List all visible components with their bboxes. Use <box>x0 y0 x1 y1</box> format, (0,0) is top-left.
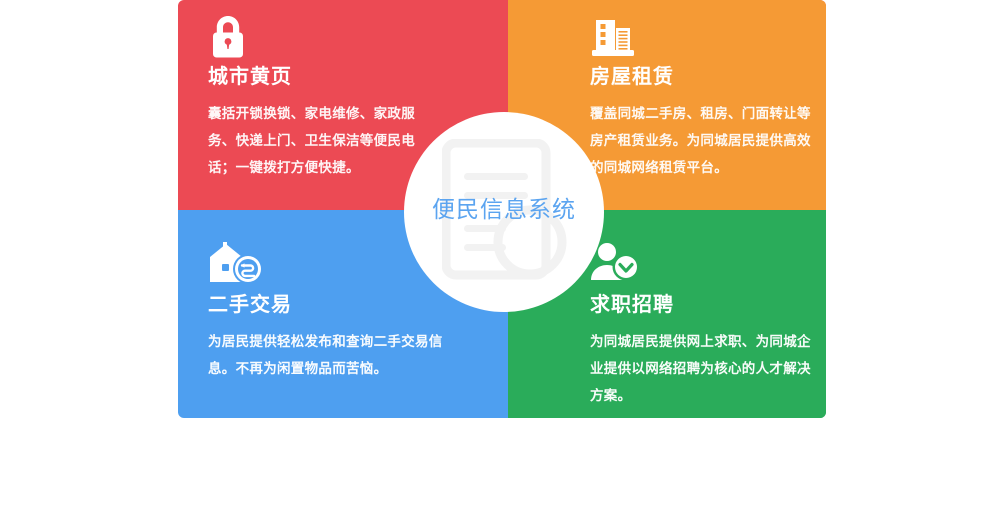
person-check-icon <box>590 242 822 288</box>
quadrant-description: 囊括开锁换锁、家电维修、家政服务、快递上门、卫生保洁等便民电话；一键拨打方便快捷… <box>208 100 438 181</box>
quadrant-title: 城市黄页 <box>208 66 438 88</box>
quadrant-body: 求职招聘 为同城居民提供网上求职、为同城企业提供以网络招聘为核心的人才解决方案。 <box>590 242 822 409</box>
quadrant-body: 城市黄页 囊括开锁换锁、家电维修、家政服务、快递上门、卫生保洁等便民电话；一键拨… <box>208 14 438 181</box>
lock-icon <box>208 14 438 60</box>
infographic-canvas: 城市黄页 囊括开锁换锁、家电维修、家政服务、快递上门、卫生保洁等便民电话；一键拨… <box>0 0 1000 508</box>
quadrant-description: 为同城居民提供网上求职、为同城企业提供以网络招聘为核心的人才解决方案。 <box>590 328 822 409</box>
quadrant-title: 房屋租赁 <box>590 66 820 88</box>
center-label: 便民信息系统 <box>404 198 604 221</box>
quadrant-title: 二手交易 <box>208 294 458 316</box>
center-hub-circle: 便民信息系统 <box>404 112 604 312</box>
quadrant-description: 覆盖同城二手房、租房、门面转让等房产租赁业务。为同城居民提供高效的同城网络租赁平… <box>590 100 820 181</box>
building-icon <box>590 14 820 60</box>
quadrant-description: 为居民提供轻松发布和查询二手交易信息。不再为闲置物品而苦恼。 <box>208 328 458 382</box>
quadrant-title: 求职招聘 <box>590 294 822 316</box>
quadrant-body: 房屋租赁 覆盖同城二手房、租房、门面转让等房产租赁业务。为同城居民提供高效的同城… <box>590 14 820 181</box>
